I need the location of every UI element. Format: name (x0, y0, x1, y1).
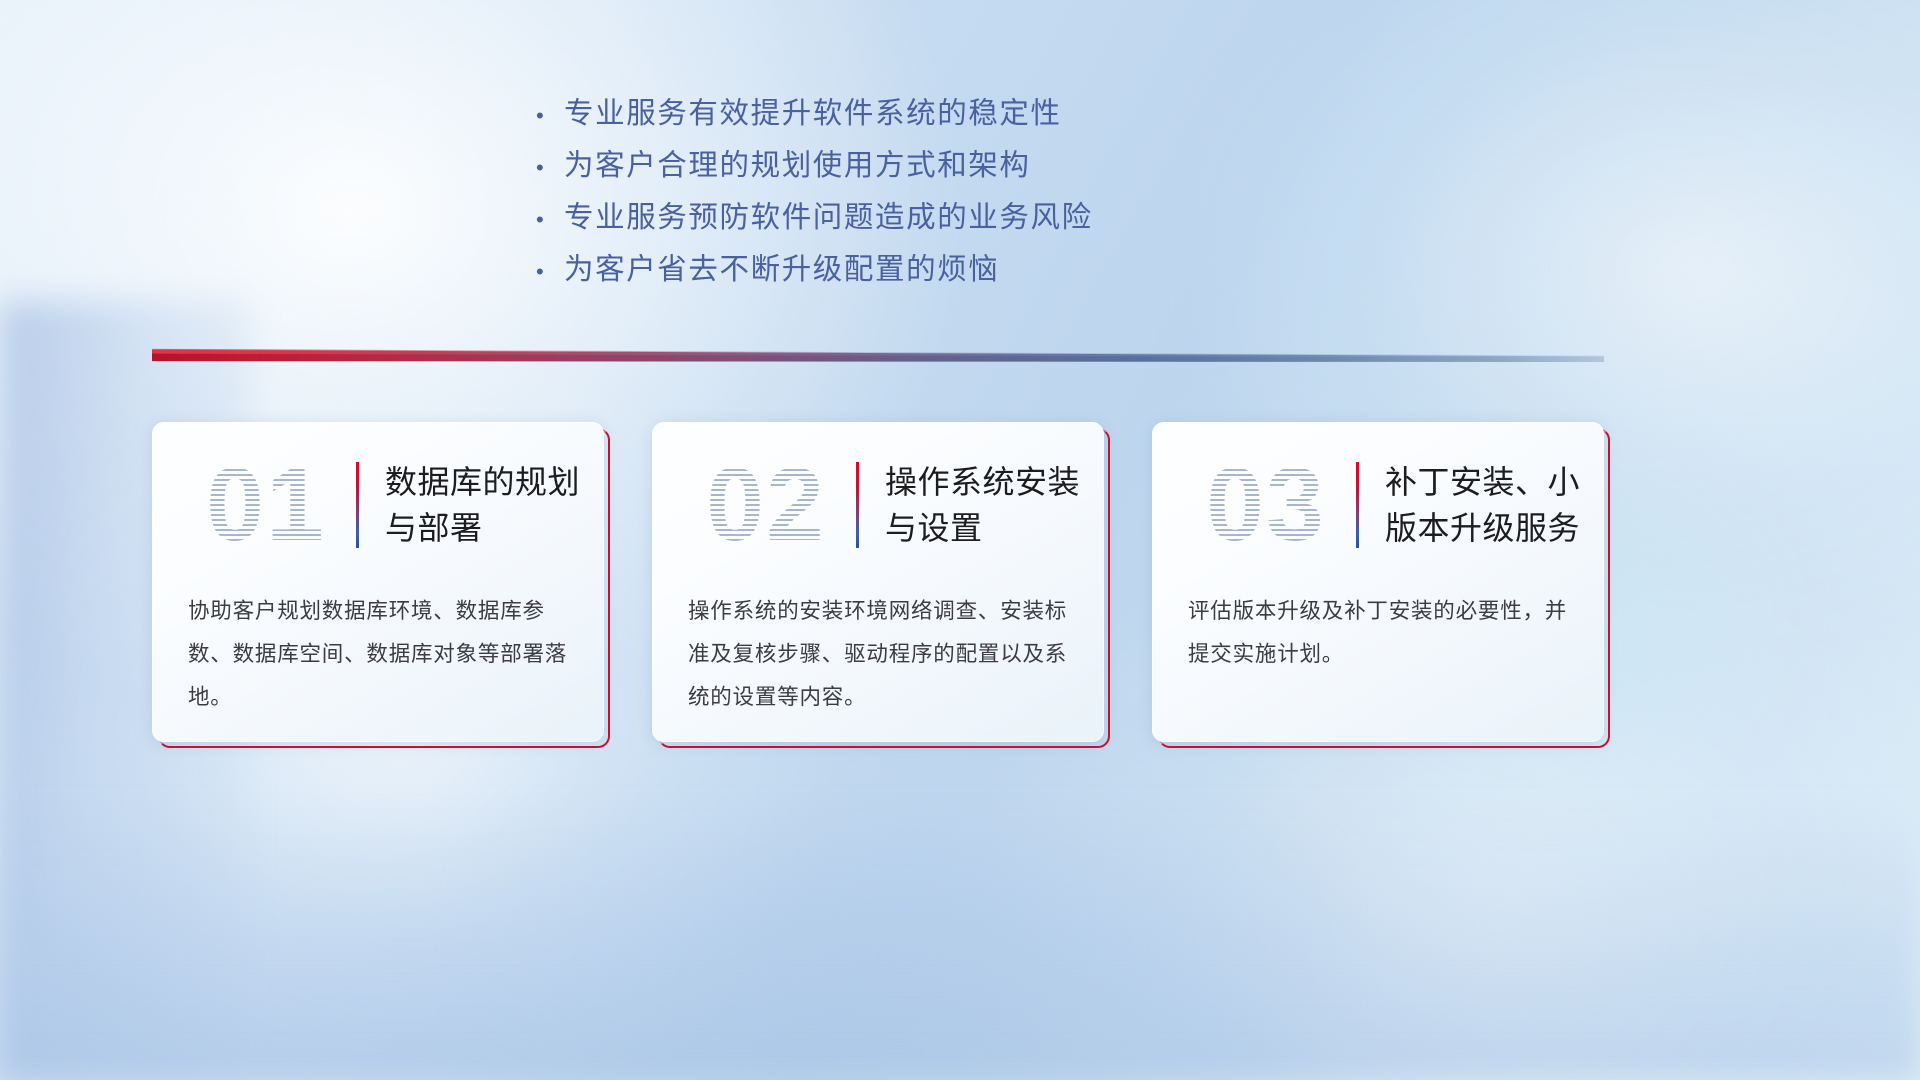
card-surface: 01 数据库的规划与部署 协助客户规划数据库环境、数据库参数、数据库空间、数据库… (152, 422, 604, 742)
card-body-text: 评估版本升级及补丁安装的必要性，并提交实施计划。 (1188, 590, 1576, 676)
card-surface: 02 操作系统安装与设置 操作系统的安装环境网络调查、安装标准及复核步骤、驱动程… (652, 422, 1104, 742)
service-card-03[interactable]: 03 补丁安装、小版本升级服务 评估版本升级及补丁安装的必要性，并提交实施计划。 (1152, 422, 1604, 742)
card-header: 02 操作系统安装与设置 (652, 444, 1104, 566)
bullet-point-icon: • (536, 90, 564, 142)
card-header: 01 数据库的规划与部署 (152, 444, 604, 566)
bullet-text: 专业服务预防软件问题造成的业务风险 (564, 192, 1093, 244)
bullet-point-icon: • (536, 194, 564, 246)
card-title: 数据库的规划与部署 (385, 459, 604, 551)
card-divider-rule (1356, 462, 1359, 548)
card-title: 操作系统安装与设置 (885, 459, 1104, 551)
card-number-watermark: 02 (676, 449, 856, 561)
bullet-text: 为客户合理的规划使用方式和架构 (564, 140, 1031, 192)
service-card-list: 01 数据库的规划与部署 协助客户规划数据库环境、数据库参数、数据库空间、数据库… (152, 422, 1604, 742)
list-item: • 专业服务预防软件问题造成的业务风险 (536, 192, 1093, 244)
bullet-point-icon: • (536, 142, 564, 194)
card-body-text: 协助客户规划数据库环境、数据库参数、数据库空间、数据库对象等部署落地。 (188, 590, 576, 719)
list-item: • 为客户省去不断升级配置的烦恼 (536, 244, 1093, 296)
card-body-text: 操作系统的安装环境网络调查、安装标准及复核步骤、驱动程序的配置以及系统的设置等内… (688, 590, 1076, 719)
card-divider-rule (356, 462, 359, 548)
bullet-text: 专业服务有效提升软件系统的稳定性 (564, 88, 1062, 140)
benefits-bullet-list: • 专业服务有效提升软件系统的稳定性 • 为客户合理的规划使用方式和架构 • 专… (536, 88, 1093, 296)
service-card-02[interactable]: 02 操作系统安装与设置 操作系统的安装环境网络调查、安装标准及复核步骤、驱动程… (652, 422, 1104, 742)
list-item: • 为客户合理的规划使用方式和架构 (536, 140, 1093, 192)
card-header: 03 补丁安装、小版本升级服务 (1152, 444, 1604, 566)
section-divider (152, 344, 1604, 366)
card-title: 补丁安装、小版本升级服务 (1385, 459, 1604, 551)
list-item: • 专业服务有效提升软件系统的稳定性 (536, 88, 1093, 140)
card-number-watermark: 03 (1176, 449, 1356, 561)
card-surface: 03 补丁安装、小版本升级服务 评估版本升级及补丁安装的必要性，并提交实施计划。 (1152, 422, 1604, 742)
card-number-watermark: 01 (176, 449, 356, 561)
bullet-point-icon: • (536, 246, 564, 298)
bullet-text: 为客户省去不断升级配置的烦恼 (564, 244, 999, 296)
service-card-01[interactable]: 01 数据库的规划与部署 协助客户规划数据库环境、数据库参数、数据库空间、数据库… (152, 422, 604, 742)
card-divider-rule (856, 462, 859, 548)
